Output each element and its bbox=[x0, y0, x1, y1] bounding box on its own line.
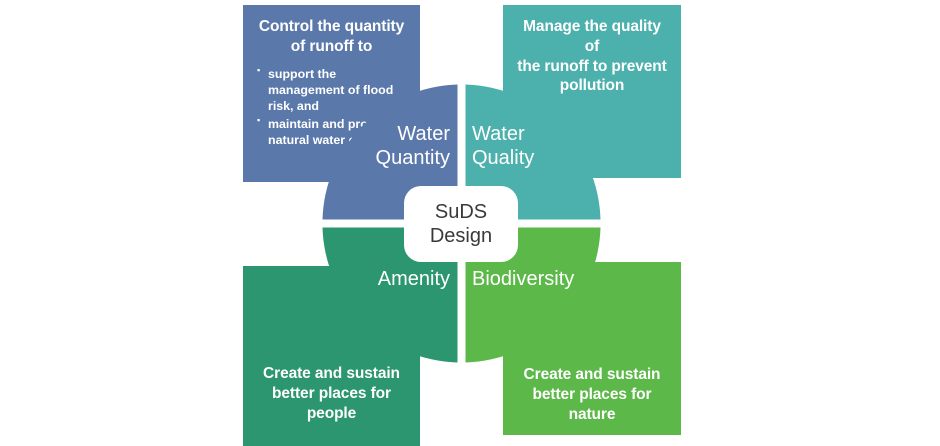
biodiversity-text-line3: nature bbox=[569, 406, 616, 423]
biodiversity-text-line2: better places for bbox=[533, 386, 652, 403]
water-quantity-label-line1: Water bbox=[397, 123, 450, 145]
water-quality-text-line2: the runoff to prevent bbox=[517, 58, 666, 75]
amenity-text-line1: Create and sustain bbox=[263, 365, 400, 382]
center-hub-line1: SuDS bbox=[435, 201, 487, 223]
center-hub-suds-design: SuDS Design bbox=[404, 186, 518, 262]
quadrant-label-water-quantity: Water Quantity bbox=[336, 123, 450, 170]
biodiversity-text-line1: Create and sustain bbox=[524, 366, 661, 383]
quadrant-label-biodiversity: Biodiversity bbox=[472, 268, 586, 292]
water-quantity-heading-line1: Control the quantity bbox=[259, 18, 404, 35]
biodiversity-label-line1: Biodiversity bbox=[472, 268, 574, 290]
center-hub-line2: Design bbox=[430, 225, 492, 247]
water-quality-label-line2: Quality bbox=[472, 147, 534, 169]
water-quantity-heading-line2: of runoff to bbox=[291, 38, 372, 55]
suds-design-diagram: Control the quantity of runoff to suppor… bbox=[0, 0, 940, 446]
center-hub-text: SuDS Design bbox=[430, 200, 492, 248]
quadrant-label-amenity: Amenity bbox=[336, 268, 450, 292]
water-quality-description: Manage the quality of the runoff to prev… bbox=[503, 5, 681, 96]
water-quality-label-line1: Water bbox=[472, 123, 525, 145]
amenity-label-line1: Amenity bbox=[378, 268, 450, 290]
quadrant-label-water-quality: Water Quality bbox=[472, 123, 586, 170]
water-quantity-label-line2: Quantity bbox=[376, 147, 450, 169]
water-quality-text-line1: Manage the quality of bbox=[523, 18, 661, 55]
amenity-text-line2: better places for bbox=[272, 385, 391, 402]
amenity-text-line3: people bbox=[307, 405, 356, 422]
water-quantity-heading: Control the quantity of runoff to bbox=[243, 5, 420, 57]
